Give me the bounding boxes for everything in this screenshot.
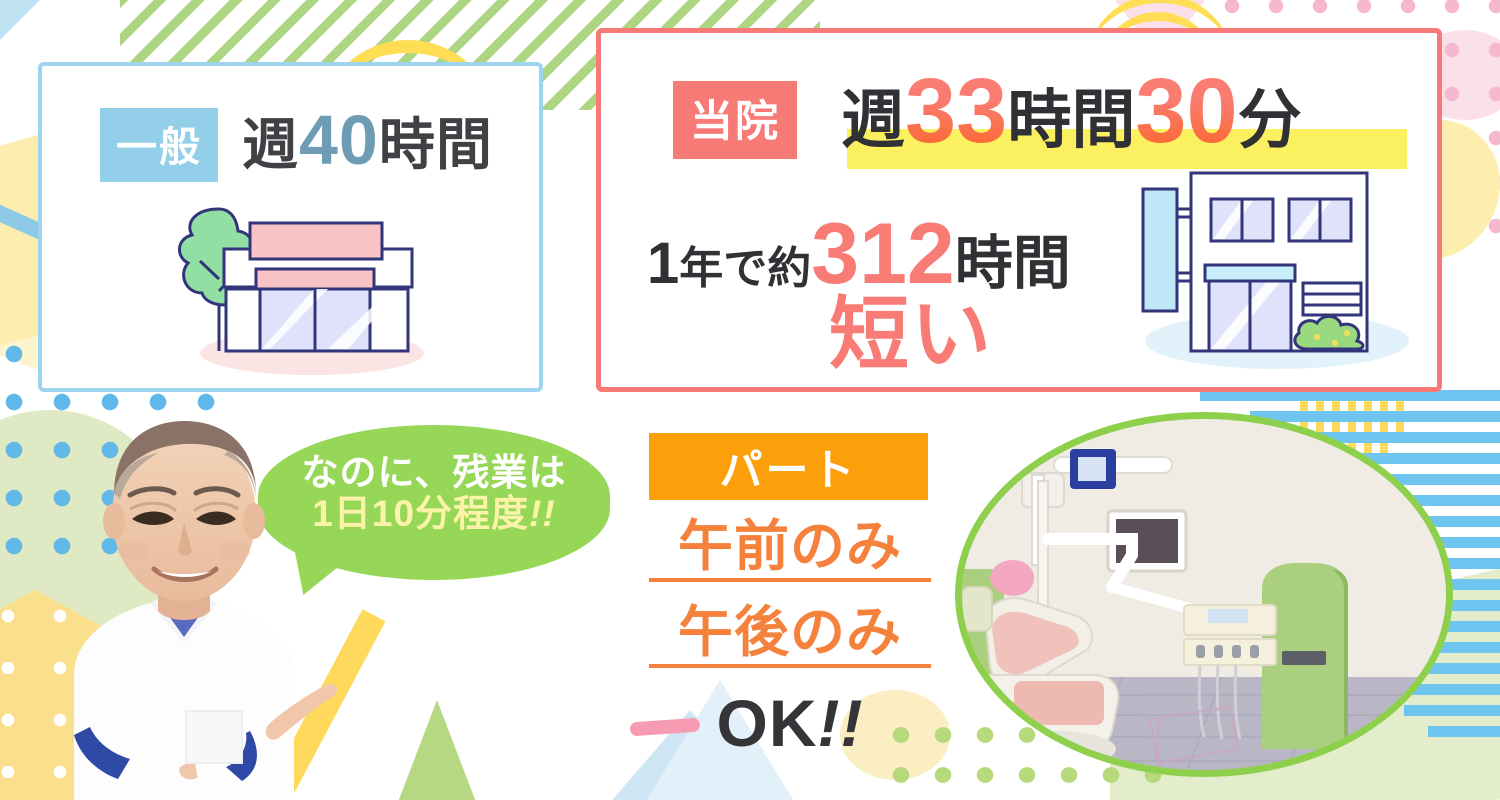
clinic-yearly-saving-text: 1年で約312時間 — [647, 211, 1071, 297]
part-time-ok-marks: !! — [818, 686, 864, 760]
speech-bubble-line2-marks: !! — [529, 493, 556, 534]
shop-illustration — [162, 191, 432, 381]
clinic-hours-saved: 312 — [811, 206, 955, 302]
part-time-option-afternoon: 午後のみ — [649, 604, 931, 668]
clinic-shorter-label: 短い — [829, 295, 993, 375]
clinic-de-particle: で — [723, 244, 767, 293]
clinic-badge: 当院 — [673, 81, 797, 159]
clinic-stat-minutes-unit: 分 — [1238, 84, 1302, 156]
clinic-stat-prefix: 週 — [841, 84, 905, 156]
poster-canvas: 一般 週40時間 当院 週33時間30分 1年で約31 — [0, 0, 1500, 800]
clinic-weekly-hours-text: 週33時間30分 — [841, 65, 1302, 157]
dentist-pointing-photo — [18, 375, 348, 800]
part-time-badge: パート — [649, 433, 928, 500]
yellow-bar-icon — [1380, 400, 1388, 460]
green-triangle-decoration — [395, 700, 479, 800]
general-standard-card: 一般 週40時間 — [38, 62, 543, 392]
clinic-year-count: 1 — [647, 231, 679, 296]
dental-treatment-room-photo — [955, 412, 1453, 777]
clinic-stat-minutes: 30 — [1135, 60, 1237, 162]
clinic-stat-hours: 33 — [905, 60, 1007, 162]
clinic-hours-unit: 時間 — [955, 231, 1071, 296]
part-time-ok-label: OK!! — [649, 690, 931, 756]
general-stat-text: 週40時間 — [242, 102, 493, 179]
clinic-year-label: 年 — [679, 244, 723, 293]
clinic-approx-label: 約 — [767, 244, 811, 293]
clinic-stat-hours-unit: 時間 — [1007, 84, 1135, 156]
yellow-bar-icon — [1396, 400, 1404, 440]
blue-line-icon — [1428, 726, 1500, 737]
general-stat-number: 40 — [299, 101, 379, 179]
general-stat-suffix: 時間 — [379, 113, 493, 176]
part-time-option-morning: 午前のみ — [649, 518, 931, 582]
general-stat-prefix: 週 — [242, 113, 299, 176]
clinic-building-illustration — [1125, 161, 1425, 376]
general-badge: 一般 — [100, 108, 218, 182]
part-time-ok-text: OK — [717, 686, 818, 760]
our-clinic-card: 当院 週33時間30分 1年で約312時間 短い — [596, 28, 1442, 392]
dental-room-illustration — [962, 419, 1453, 777]
blue-line-icon — [1404, 705, 1500, 716]
blue-line-icon — [1250, 411, 1500, 422]
